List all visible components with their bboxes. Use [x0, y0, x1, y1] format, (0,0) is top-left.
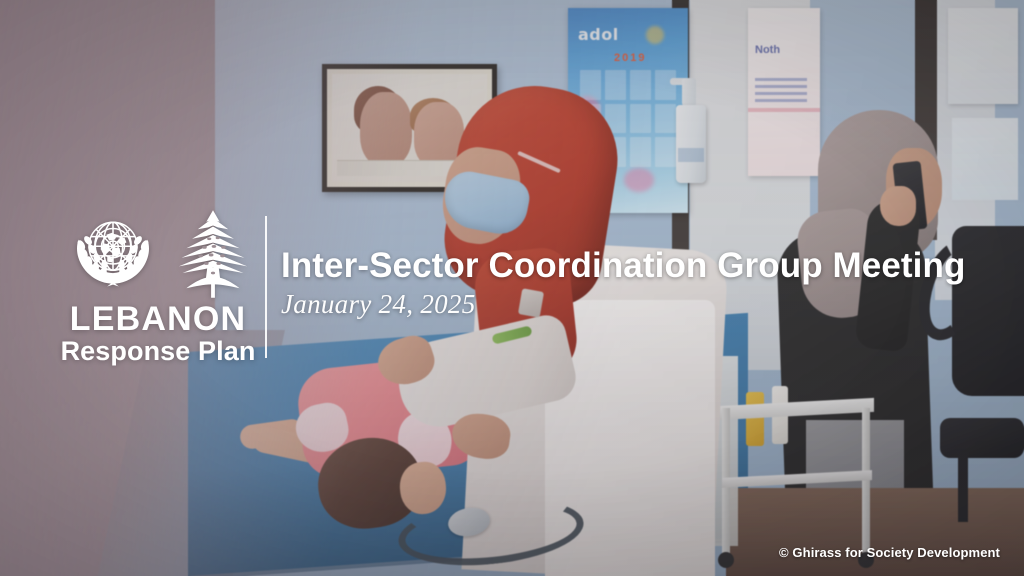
un-emblem-icon [65, 204, 161, 300]
lebanon-response-plan-logo: LEBANON Response Plan [58, 204, 258, 366]
vertical-divider [265, 216, 267, 358]
brand-plan-name: Response Plan [58, 337, 258, 367]
title-block: Inter-Sector Coordination Group Meeting … [281, 246, 965, 320]
logo-marks [58, 204, 258, 300]
photo-credit: © Ghirass for Society Development [779, 545, 1000, 560]
brand-country-name: LEBANON [58, 302, 258, 337]
slide-date: January 24, 2025 [281, 289, 965, 320]
slide-title: Inter-Sector Coordination Group Meeting [281, 246, 965, 285]
lebanon-cedar-icon [175, 208, 251, 300]
presentation-title-slide: adol 2019 Noth [0, 0, 1024, 576]
